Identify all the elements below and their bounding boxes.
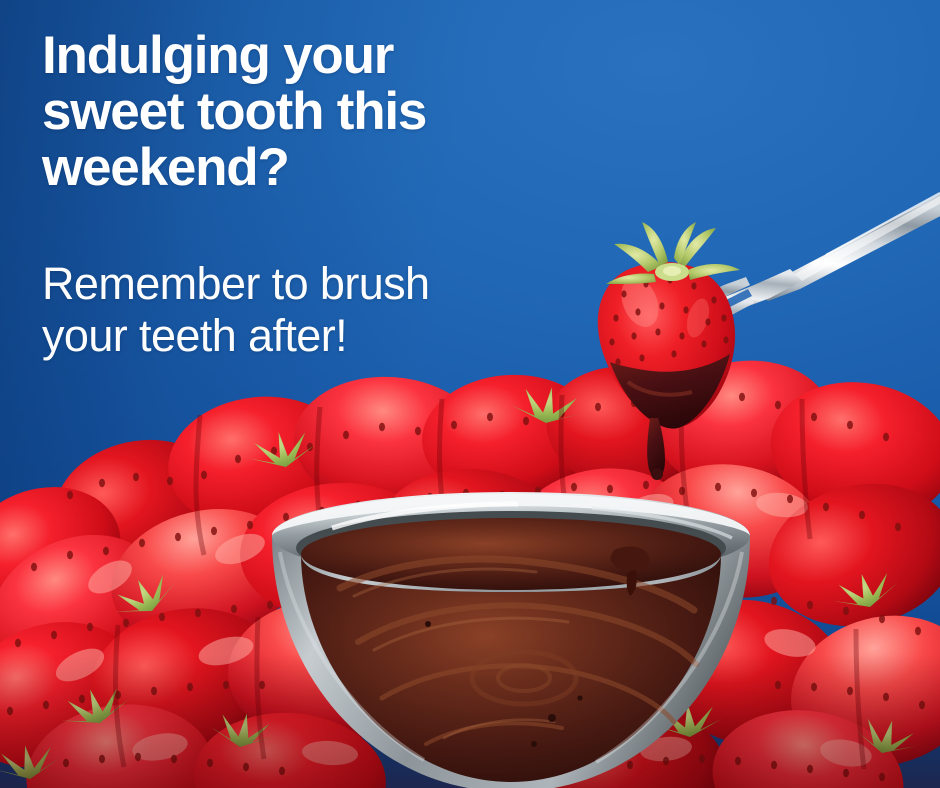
chocolate-bowl bbox=[262, 492, 760, 788]
social-media-poster: Indulging your sweet tooth this weekend?… bbox=[0, 0, 940, 788]
page-title: Indulging your sweet tooth this weekend? bbox=[42, 28, 602, 196]
subheading: Remember to brush your teeth after! bbox=[42, 258, 602, 362]
copy-block: Indulging your sweet tooth this weekend?… bbox=[42, 28, 602, 362]
chocolate-dipped-strawberry-on-fork bbox=[588, 222, 768, 482]
